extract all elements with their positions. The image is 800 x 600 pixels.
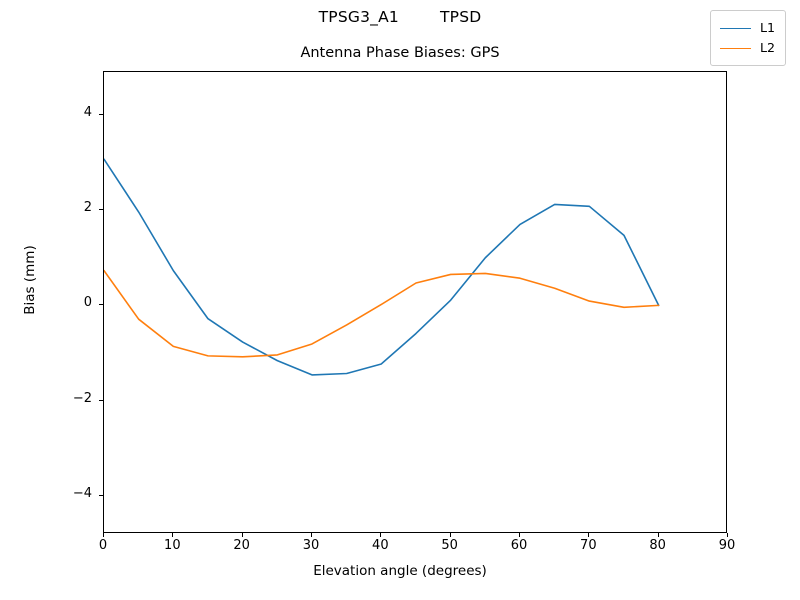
x-tick-mark xyxy=(519,533,520,537)
y-tick-label: 4 xyxy=(46,105,92,120)
y-tick-mark xyxy=(99,304,103,305)
chart-legend[interactable]: L1L2 xyxy=(710,10,786,66)
x-tick-mark xyxy=(242,533,243,537)
legend-swatch-l1 xyxy=(720,28,751,29)
x-tick-mark xyxy=(658,533,659,537)
legend-label: L1 xyxy=(760,22,775,35)
y-tick-label: 0 xyxy=(46,295,92,310)
chart-figure: TPSG3_A1 TPSD Antenna Phase Biases: GPS … xyxy=(0,0,800,600)
x-tick-label: 30 xyxy=(291,538,331,553)
x-tick-label: 70 xyxy=(568,538,608,553)
x-tick-mark xyxy=(172,533,173,537)
y-tick-label: −2 xyxy=(46,391,92,406)
series-line-l1 xyxy=(104,159,659,375)
y-tick-mark xyxy=(99,114,103,115)
x-tick-label: 40 xyxy=(360,538,400,553)
figure-suptitle: TPSG3_A1 TPSD xyxy=(0,8,800,26)
chart-title: Antenna Phase Biases: GPS xyxy=(0,45,800,61)
y-axis-label: Bias (mm) xyxy=(22,110,38,450)
y-tick-label: −4 xyxy=(46,486,92,501)
x-tick-label: 90 xyxy=(707,538,747,553)
x-tick-label: 50 xyxy=(430,538,470,553)
y-tick-mark xyxy=(99,495,103,496)
x-tick-mark xyxy=(311,533,312,537)
plot-lines xyxy=(104,72,728,534)
series-line-l2 xyxy=(104,271,659,357)
x-tick-label: 80 xyxy=(638,538,678,553)
x-tick-mark xyxy=(588,533,589,537)
x-tick-label: 0 xyxy=(83,538,123,553)
legend-item-l2[interactable]: L2 xyxy=(720,38,775,58)
legend-label: L2 xyxy=(760,42,775,55)
x-tick-label: 10 xyxy=(152,538,192,553)
x-tick-label: 60 xyxy=(499,538,539,553)
plot-area xyxy=(103,71,727,533)
x-tick-mark xyxy=(727,533,728,537)
legend-item-l1[interactable]: L1 xyxy=(720,18,775,38)
legend-swatch-l2 xyxy=(720,48,751,49)
x-tick-mark xyxy=(450,533,451,537)
y-tick-label: 2 xyxy=(46,200,92,215)
x-tick-mark xyxy=(380,533,381,537)
x-tick-label: 20 xyxy=(222,538,262,553)
x-tick-mark xyxy=(103,533,104,537)
x-axis-label: Elevation angle (degrees) xyxy=(0,563,800,579)
y-tick-mark xyxy=(99,209,103,210)
y-tick-mark xyxy=(99,400,103,401)
